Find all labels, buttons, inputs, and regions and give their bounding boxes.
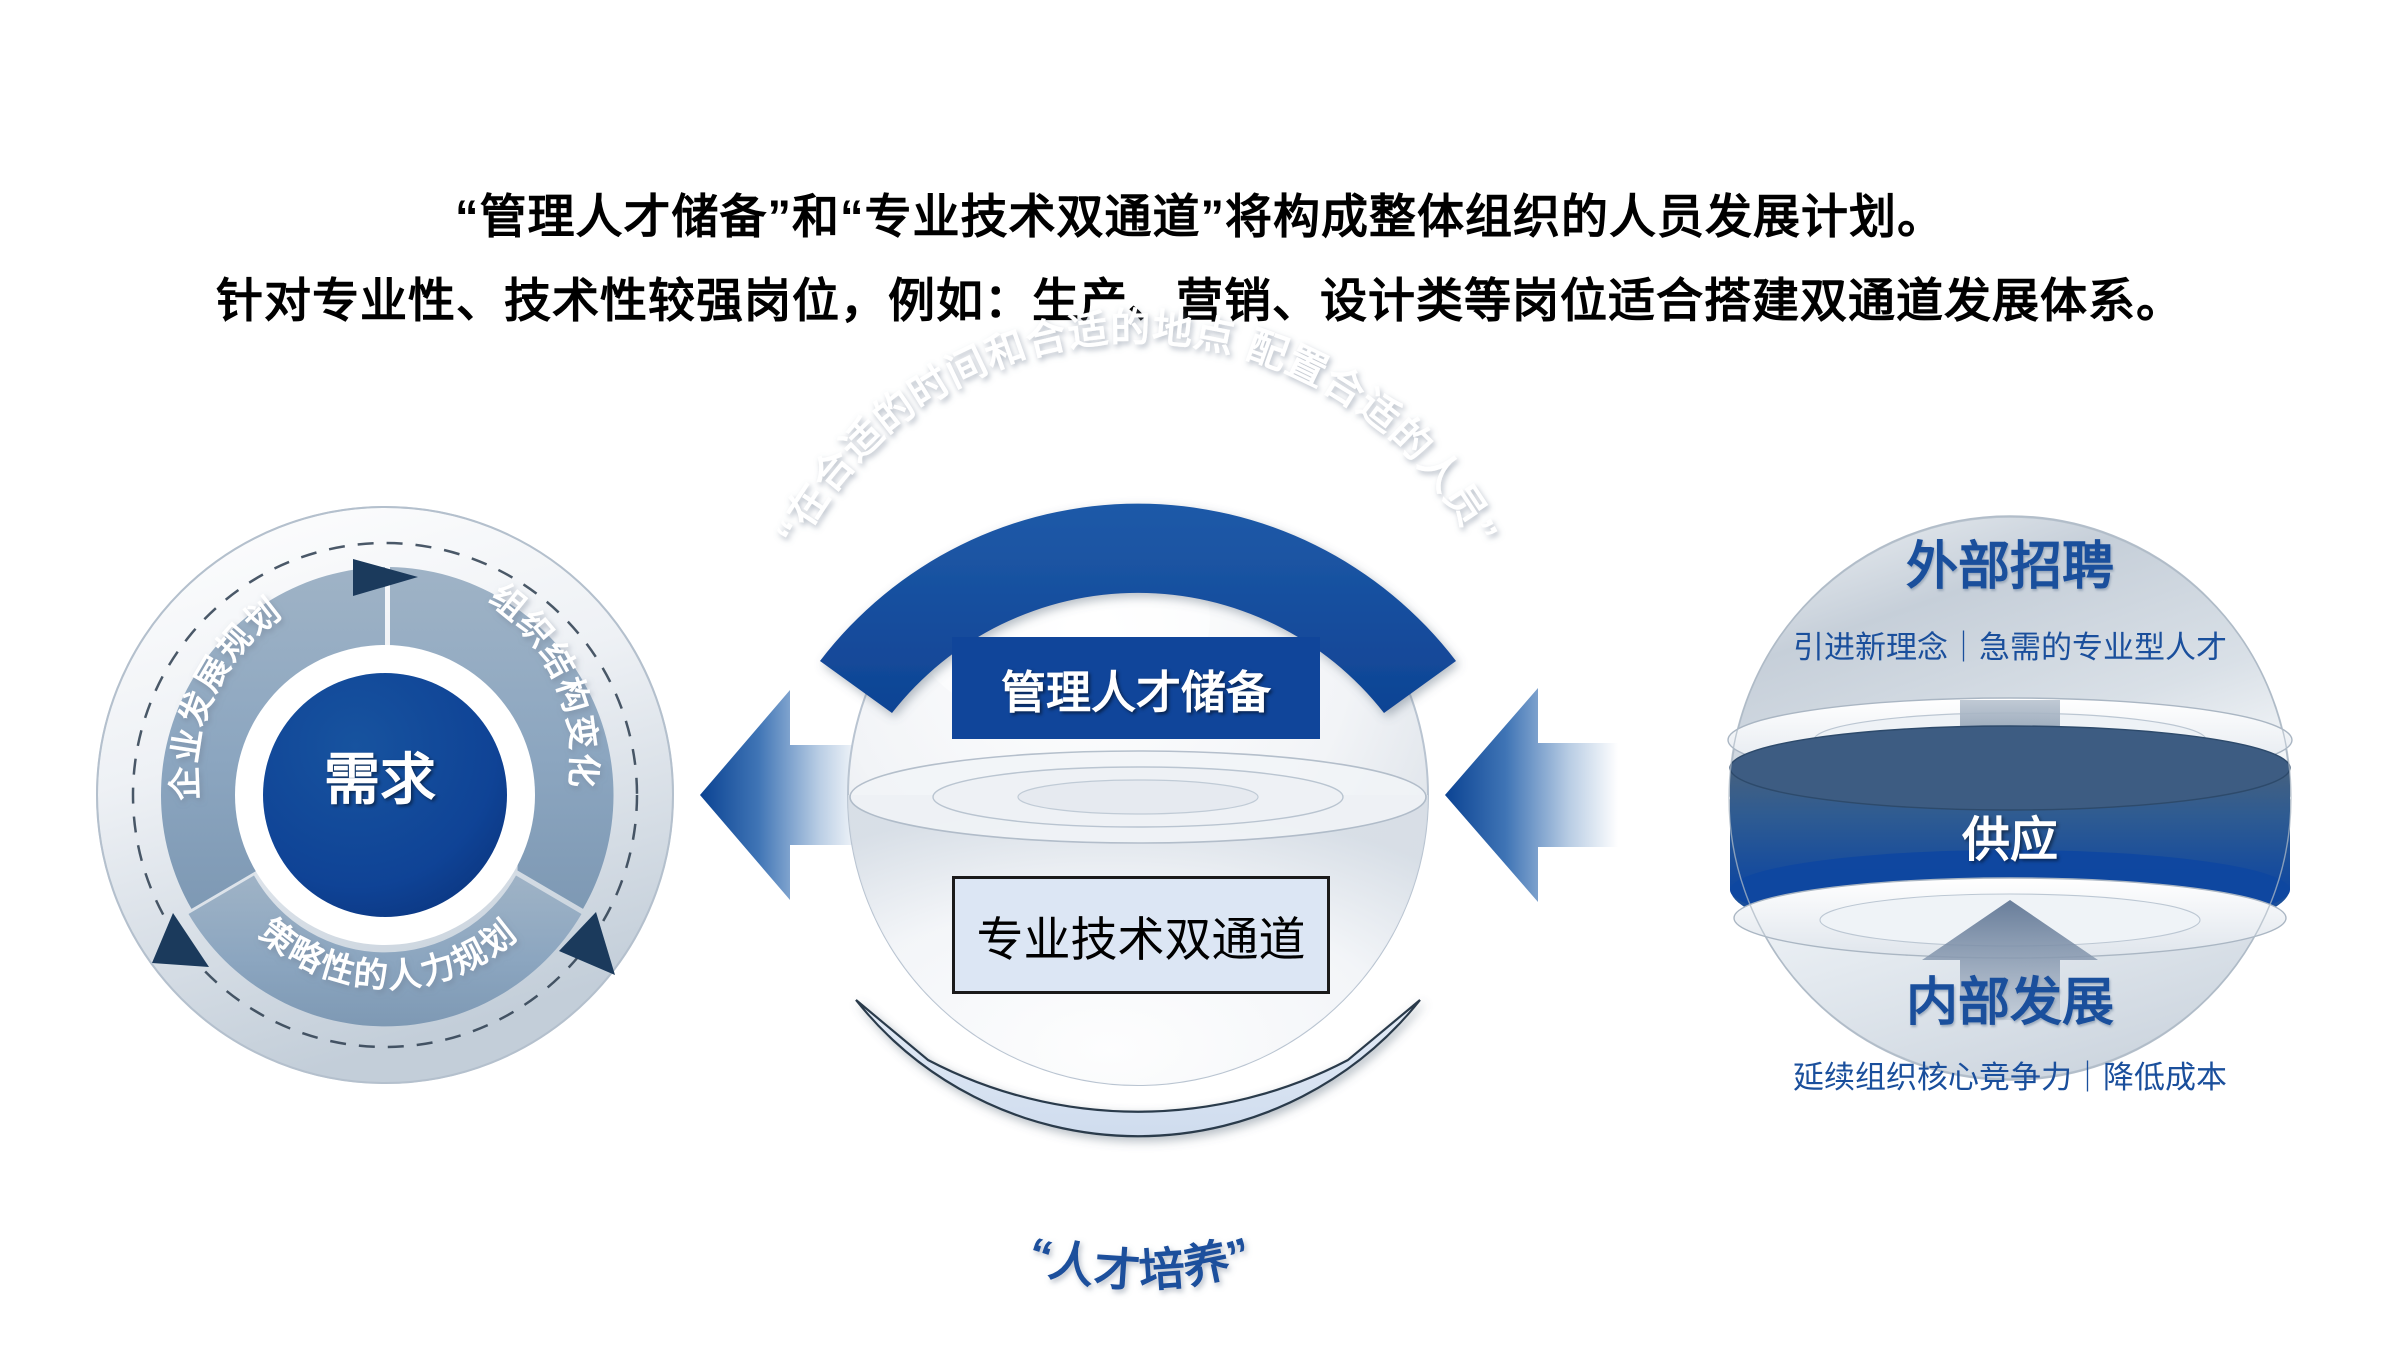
internal-development-subtitle-row: 延续组织核心竞争力｜降低成本 [1640, 1052, 2380, 1097]
demand-center-label: 需求 [270, 735, 490, 816]
internal-development-title: 内部发展 [1906, 974, 2114, 1032]
technical-dual-channel-label: 专业技术双通道 [977, 901, 1306, 970]
bottom-arc-text: “人才培养” [1021, 1227, 1259, 1298]
external-recruitment-subtitle-row: 引进新理念｜急需的专业型人才 [1640, 622, 2380, 667]
external-recruitment-title: 外部招聘 [1906, 538, 2114, 596]
talent-sphere-graphic: “在合适的时间和合适的地点 配置合适的人员” “人才培养” [768, 306, 1506, 1297]
external-recruitment-subtitle: 引进新理念｜急需的专业型人才 [1793, 630, 2227, 665]
supply-band-label-row: 供应 [1640, 800, 2380, 870]
external-recruitment-title-row: 外部招聘 [1640, 524, 2380, 599]
arrow-supply-to-sphere [1445, 688, 1618, 902]
internal-development-title-row: 内部发展 [1640, 960, 2380, 1035]
supply-band-label: 供应 [1962, 814, 2058, 867]
internal-development-subtitle: 延续组织核心竞争力｜降低成本 [1793, 1060, 2227, 1095]
arrow-sphere-to-demand [700, 690, 865, 900]
technical-dual-channel-box[interactable]: 专业技术双通道 [952, 876, 1330, 994]
management-talent-reserve-box[interactable]: 管理人才储备 [952, 637, 1320, 739]
management-talent-reserve-label: 管理人才储备 [1001, 656, 1271, 721]
svg-text:“人才培养”: “人才培养” [1021, 1227, 1259, 1298]
slide-canvas: “管理人才储备”和“专业技术双通道”将构成整体组织的人员发展计划。 针对专业性、… [0, 0, 2400, 1350]
